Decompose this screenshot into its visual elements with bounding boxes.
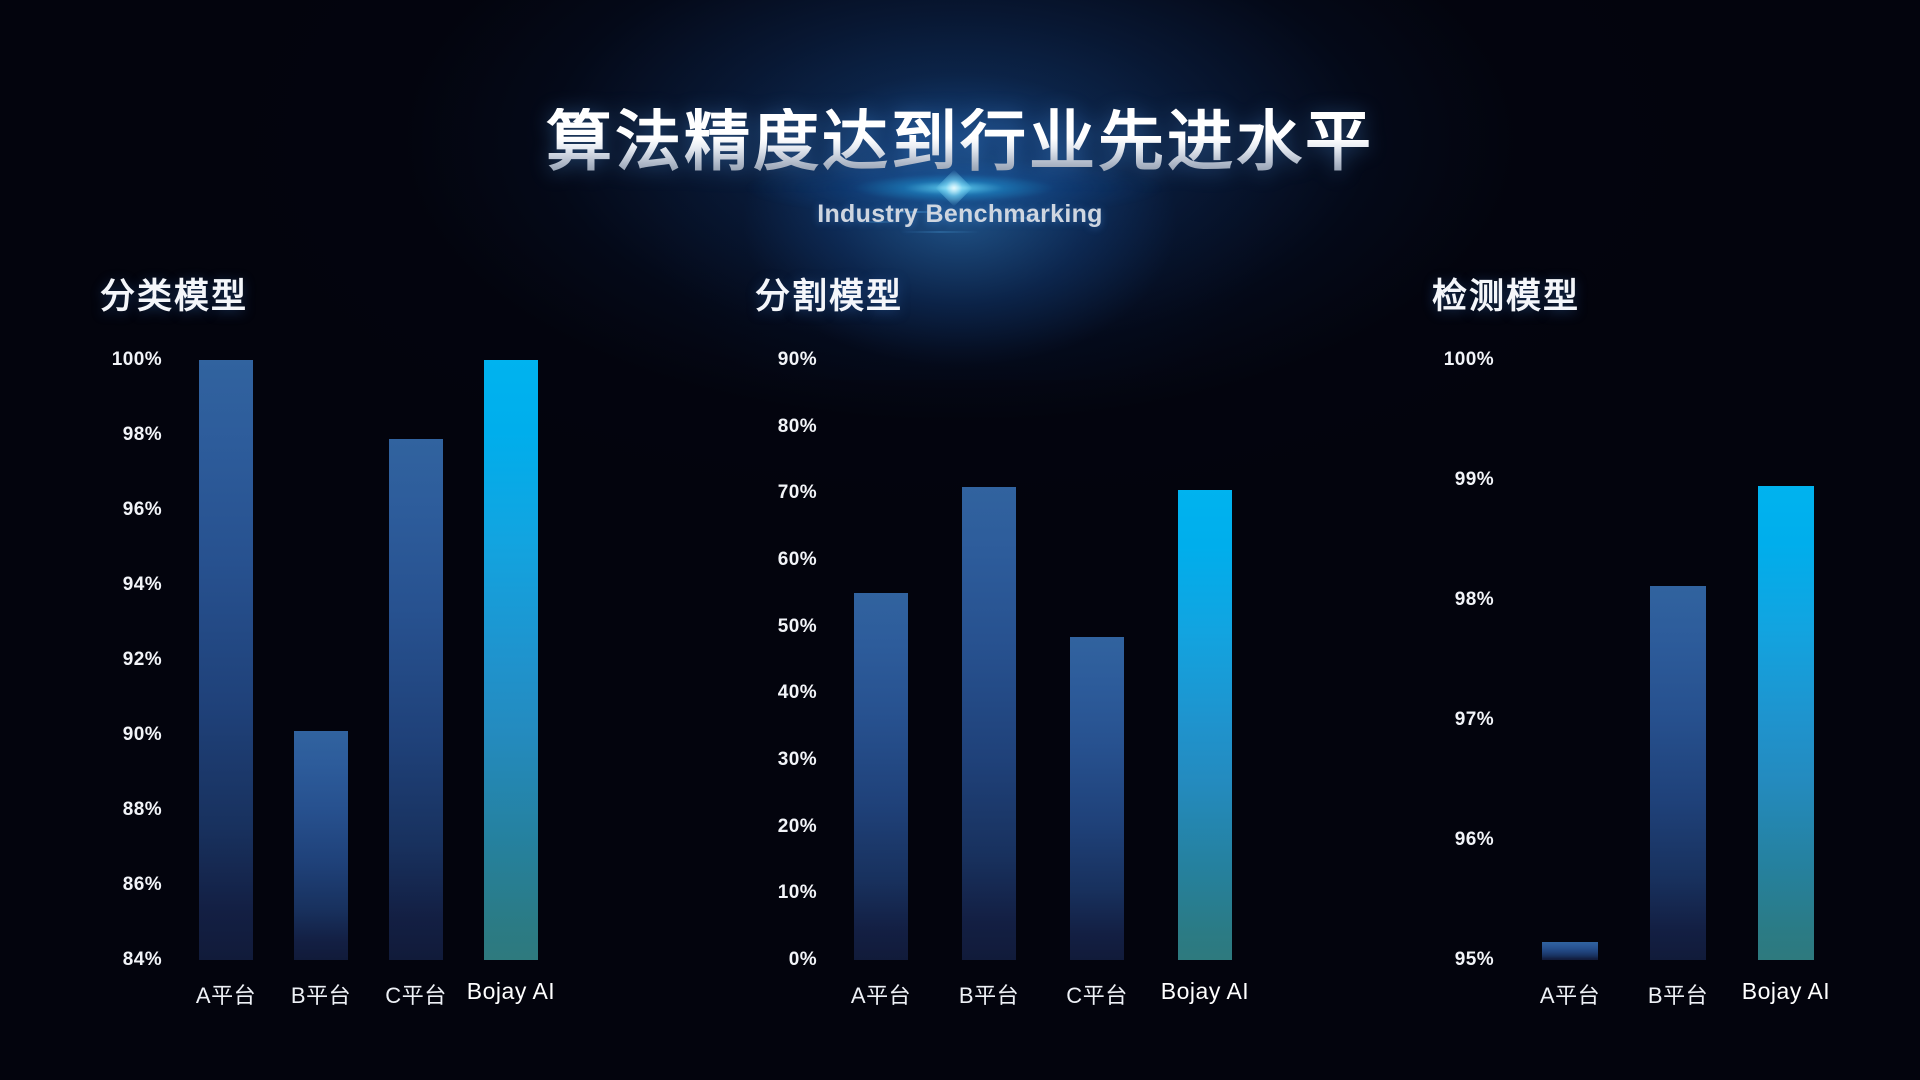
bar (199, 360, 253, 960)
bar (1758, 486, 1814, 960)
chart-title: 分割模型 (755, 268, 1355, 319)
x-axis-labels: A平台B平台C平台Bojay AI (755, 978, 1355, 1018)
x-axis-tick: C平台 (385, 978, 446, 1010)
x-axis-tick: Bojay AI (1742, 978, 1830, 1005)
x-axis-tick: A平台 (851, 978, 911, 1010)
x-axis-tick: B平台 (959, 978, 1019, 1010)
chart-panel-detection: 检测模型 100%99%98%97%96%95% A平台B平台Bojay AI (1420, 268, 1900, 1058)
bar-series (100, 360, 700, 960)
chart-plot-area: 100%99%98%97%96%95% A平台B平台Bojay AI (1420, 360, 1900, 960)
bar (484, 360, 538, 960)
bar (854, 593, 908, 960)
chart-plot-area: 90%80%70%60%50%40%30%20%10%0% A平台B平台C平台B… (755, 360, 1355, 960)
chart-plot-area: 100%98%96%94%92%90%88%86%84% A平台B平台C平台Bo… (100, 360, 700, 960)
page-subtitle: Industry Benchmarking (0, 200, 1920, 229)
bar (294, 731, 348, 960)
slide-header: 算法精度达到行业先进水平 Industry Benchmarking (0, 0, 1920, 229)
bar (1542, 942, 1598, 960)
x-axis-tick: B平台 (291, 978, 351, 1010)
bar-series (1420, 360, 1900, 960)
chart-panel-segmentation: 分割模型 90%80%70%60%50%40%30%20%10%0% A平台B平… (755, 268, 1355, 1058)
bar (1650, 586, 1706, 960)
charts-container: 分类模型 100%98%96%94%92%90%88%86%84% A平台B平台… (0, 268, 1920, 1058)
chart-panel-classification: 分类模型 100%98%96%94%92%90%88%86%84% A平台B平台… (100, 268, 700, 1058)
bar (1178, 490, 1232, 960)
x-axis-labels: A平台B平台Bojay AI (1420, 978, 1900, 1018)
chart-title: 检测模型 (1420, 268, 1900, 319)
chart-title: 分类模型 (100, 268, 700, 319)
page-title: 算法精度达到行业先进水平 (0, 108, 1920, 174)
bar (389, 439, 443, 960)
bar (1070, 637, 1124, 960)
x-axis-tick: Bojay AI (1161, 978, 1249, 1005)
bar (962, 487, 1016, 960)
x-axis-labels: A平台B平台C平台Bojay AI (100, 978, 700, 1018)
x-axis-tick: B平台 (1648, 978, 1708, 1010)
bar-series (755, 360, 1355, 960)
x-axis-tick: C平台 (1066, 978, 1127, 1010)
x-axis-tick: A平台 (1540, 978, 1600, 1010)
x-axis-tick: Bojay AI (467, 978, 555, 1005)
x-axis-tick: A平台 (196, 978, 256, 1010)
